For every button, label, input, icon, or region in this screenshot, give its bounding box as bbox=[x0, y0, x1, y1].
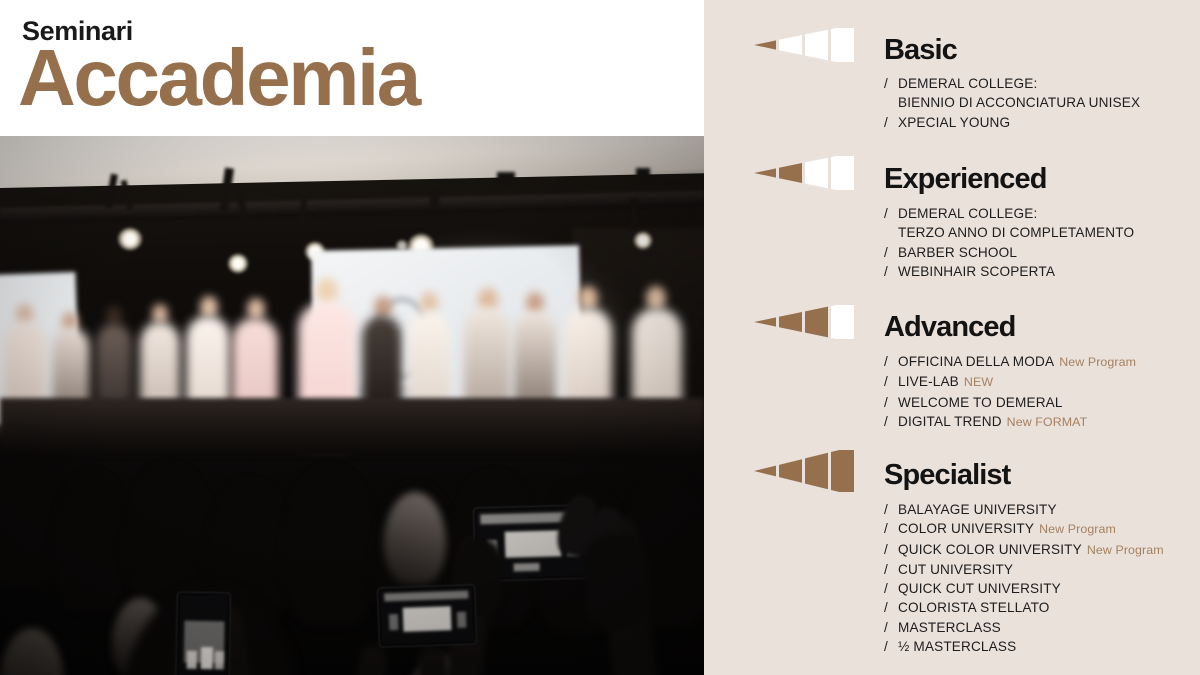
section-heading-experienced: Experienced bbox=[884, 165, 1047, 194]
page-title: Accademia bbox=[18, 38, 419, 118]
bullet-slash-icon: / bbox=[884, 540, 898, 559]
photo-model bbox=[200, 296, 218, 318]
photo-lamp-stem bbox=[636, 168, 650, 180]
photo-stage-light bbox=[228, 254, 248, 273]
list-item-label: WELCOME TO DEMERAL bbox=[898, 395, 1063, 410]
photo-smartphone-screen bbox=[380, 587, 474, 644]
status-badge: New Program bbox=[1039, 522, 1116, 536]
photo-smartphone-glow bbox=[215, 651, 224, 669]
level-indicator-advanced bbox=[754, 305, 858, 339]
photo-lamp-stem bbox=[630, 198, 639, 230]
list-item[interactable]: /LIVE-LABNEW bbox=[884, 372, 1136, 392]
bullet-slash-icon: / bbox=[884, 618, 898, 637]
list-item-label: XPECIAL YOUNG bbox=[898, 115, 1010, 130]
list-item-continuation[interactable]: BIENNIO DI ACCONCIATURA UNISEX bbox=[884, 93, 1140, 112]
list-item-label: COLOR UNIVERSITY bbox=[898, 521, 1034, 536]
photo-model bbox=[152, 304, 168, 324]
level-arrow-icon bbox=[754, 450, 858, 492]
fashion-show-audience-photo bbox=[0, 136, 704, 675]
photo-model bbox=[578, 286, 598, 310]
level-indicator-specialist bbox=[754, 450, 858, 492]
left-column: Seminari Accademia bbox=[0, 0, 704, 675]
list-item[interactable]: /½ MASTERCLASS bbox=[884, 637, 1164, 656]
photo-smartphone-glow bbox=[457, 612, 467, 628]
list-item[interactable]: /BARBER SCHOOL bbox=[884, 243, 1134, 262]
section-heading-specialist: Specialist bbox=[884, 461, 1010, 490]
list-item[interactable]: /MASTERCLASS bbox=[884, 618, 1164, 637]
list-item[interactable]: /COLOR UNIVERSITYNew Program bbox=[884, 519, 1164, 539]
list-item-label: BARBER SCHOOL bbox=[898, 245, 1017, 260]
list-item-label: WEBINHAIR SCOPERTA bbox=[898, 264, 1055, 279]
photo-model bbox=[646, 286, 666, 310]
level-arrow-icon bbox=[754, 156, 858, 190]
list-item[interactable]: /WELCOME TO DEMERAL bbox=[884, 393, 1136, 412]
photo-smartphone-glow bbox=[514, 563, 540, 572]
photo-lamp-stem bbox=[497, 172, 515, 184]
level-indicator-basic bbox=[754, 28, 858, 62]
section-list-experienced: /DEMERAL COLLEGE: TERZO ANNO DI COMPLETA… bbox=[884, 204, 1134, 281]
photo-audience-head-lit bbox=[384, 492, 446, 584]
list-item-label: MASTERCLASS bbox=[898, 620, 1001, 635]
photo-smartphone-glow bbox=[201, 647, 213, 669]
status-badge: New FORMAT bbox=[1007, 415, 1088, 429]
course-levels-panel: Basic /DEMERAL COLLEGE: BIENNIO DI ACCON… bbox=[704, 0, 1200, 675]
photo-hand bbox=[584, 534, 648, 630]
photo-model bbox=[106, 306, 122, 326]
list-item[interactable]: /QUICK COLOR UNIVERSITYNew Program bbox=[884, 540, 1164, 560]
bullet-slash-icon: / bbox=[884, 372, 898, 391]
list-item[interactable]: /CUT UNIVERSITY bbox=[884, 560, 1164, 579]
list-item-continuation[interactable]: TERZO ANNO DI COMPLETAMENTO bbox=[884, 223, 1134, 242]
title-block: Seminari Accademia bbox=[0, 0, 704, 136]
list-item[interactable]: /XPECIAL YOUNG bbox=[884, 113, 1140, 132]
list-item[interactable]: /DEMERAL COLLEGE: bbox=[884, 204, 1134, 223]
list-item-label: QUICK CUT UNIVERSITY bbox=[898, 581, 1061, 596]
list-item-label: COLORISTA STELLATO bbox=[898, 600, 1050, 615]
status-badge: NEW bbox=[964, 375, 993, 389]
list-item-label: DIGITAL TREND bbox=[898, 414, 1002, 429]
slide-canvas: Seminari Accademia Basic /DEMERAL COLLEG… bbox=[0, 0, 1200, 675]
list-item[interactable]: /DIGITAL TRENDNew FORMAT bbox=[884, 412, 1136, 432]
list-item-label: BIENNIO DI ACCONCIATURA UNISEX bbox=[898, 95, 1140, 110]
photo-smartphone bbox=[377, 584, 477, 647]
photo-model bbox=[420, 292, 438, 314]
level-arrow-icon bbox=[754, 305, 858, 339]
status-badge: New Program bbox=[1059, 355, 1136, 369]
photo-lamp-stem bbox=[430, 188, 439, 210]
level-indicator-experienced bbox=[754, 156, 858, 190]
list-item[interactable]: /QUICK CUT UNIVERSITY bbox=[884, 579, 1164, 598]
photo-smartphone-glow bbox=[505, 530, 562, 557]
bullet-slash-icon: / bbox=[884, 519, 898, 538]
list-item[interactable]: /BALAYAGE UNIVERSITY bbox=[884, 500, 1164, 519]
bullet-slash-icon: / bbox=[884, 560, 898, 579]
bullet-slash-icon: / bbox=[884, 412, 898, 431]
photo-smartphone-glow bbox=[389, 614, 399, 630]
list-item-label: CUT UNIVERSITY bbox=[898, 562, 1013, 577]
bullet-slash-icon: / bbox=[884, 74, 898, 93]
bullet-slash-icon: / bbox=[884, 352, 898, 371]
photo-stage-light bbox=[118, 228, 142, 250]
list-item-label: DEMERAL COLLEGE: bbox=[898, 206, 1037, 221]
list-item[interactable]: /DEMERAL COLLEGE: bbox=[884, 74, 1140, 93]
list-item-label: ½ MASTERCLASS bbox=[898, 639, 1016, 654]
list-item-label: LIVE-LAB bbox=[898, 374, 959, 389]
list-item-label: QUICK COLOR UNIVERSITY bbox=[898, 542, 1082, 557]
photo-stage-light bbox=[634, 232, 652, 249]
section-list-specialist: /BALAYAGE UNIVERSITY /COLOR UNIVERSITYNe… bbox=[884, 500, 1164, 656]
list-item-label: DEMERAL COLLEGE: bbox=[898, 76, 1037, 91]
list-item[interactable]: /WEBINHAIR SCOPERTA bbox=[884, 262, 1134, 281]
photo-model bbox=[316, 278, 338, 304]
bullet-slash-icon: / bbox=[884, 113, 898, 132]
list-item-label: BALAYAGE UNIVERSITY bbox=[898, 502, 1057, 517]
photo-model bbox=[374, 296, 392, 318]
list-item-label: OFFICINA DELLA MODA bbox=[898, 354, 1054, 369]
bullet-slash-icon: / bbox=[884, 579, 898, 598]
bullet-slash-icon: / bbox=[884, 243, 898, 262]
photo-smartphone-glow bbox=[403, 606, 452, 632]
bullet-slash-icon: / bbox=[884, 598, 898, 617]
photo-smartphone-glow bbox=[187, 651, 197, 669]
photo-smartphone-glow bbox=[384, 591, 468, 602]
list-item-label: TERZO ANNO DI COMPLETAMENTO bbox=[898, 225, 1134, 240]
bullet-slash-icon: / bbox=[884, 393, 898, 412]
section-heading-basic: Basic bbox=[884, 36, 957, 65]
list-item[interactable]: /COLORISTA STELLATO bbox=[884, 598, 1164, 617]
section-list-basic: /DEMERAL COLLEGE: BIENNIO DI ACCONCIATUR… bbox=[884, 74, 1140, 132]
photo-model bbox=[247, 298, 265, 320]
bullet-slash-icon: / bbox=[884, 262, 898, 281]
level-arrow-icon bbox=[754, 28, 858, 62]
photo-model bbox=[526, 292, 544, 314]
bullet-slash-icon: / bbox=[884, 637, 898, 656]
bullet-slash-icon: / bbox=[884, 204, 898, 223]
status-badge: New Program bbox=[1087, 543, 1164, 557]
section-heading-advanced: Advanced bbox=[884, 313, 1015, 342]
bullet-slash-icon: / bbox=[884, 500, 898, 519]
section-list-advanced: /OFFICINA DELLA MODANew Program /LIVE-LA… bbox=[884, 352, 1136, 432]
list-item[interactable]: /OFFICINA DELLA MODANew Program bbox=[884, 352, 1136, 372]
